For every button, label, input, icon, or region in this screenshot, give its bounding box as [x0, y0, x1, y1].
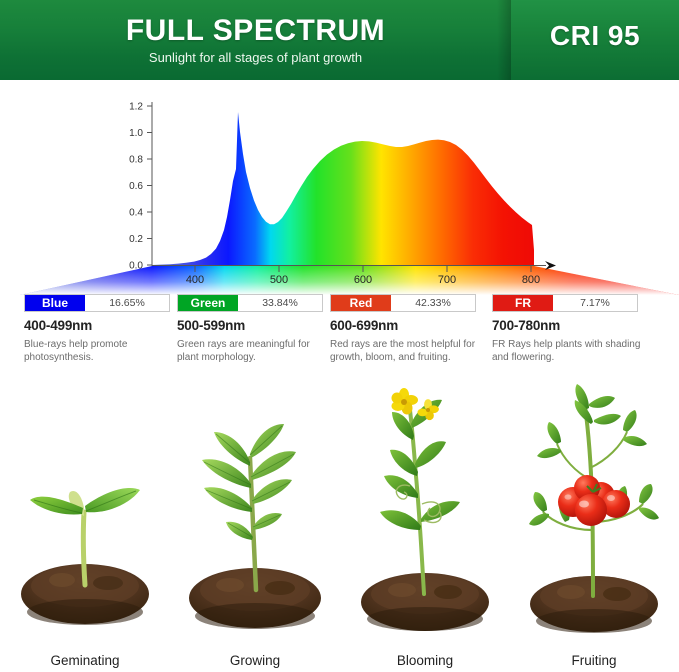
- growth-stage-blooming: Blooming: [340, 374, 510, 672]
- svg-text:0.8: 0.8: [129, 155, 143, 166]
- band-name: FR: [493, 295, 553, 311]
- tomato-plant-icon: [509, 380, 679, 638]
- x-axis-arrow-icon: [545, 261, 556, 270]
- y-axis-ticks: [147, 106, 152, 265]
- band-percent: 42.33%: [391, 295, 475, 311]
- legend-band-red: Red 42.33% 600-699nm Red rays are the mo…: [330, 294, 488, 364]
- band-percent: 16.65%: [85, 295, 169, 311]
- cri-badge: CRI 95: [511, 20, 679, 52]
- young-plant-icon: [170, 380, 340, 638]
- growth-stage-row: Geminating: [0, 374, 679, 672]
- svg-text:800: 800: [522, 274, 540, 286]
- stage-label: Fruiting: [509, 653, 679, 668]
- band-percent: 33.84%: [238, 295, 322, 311]
- svg-text:600: 600: [354, 274, 372, 286]
- band-description: Red rays are the most helpful for growth…: [330, 338, 482, 364]
- band-badge-row: Blue 16.65%: [24, 294, 170, 312]
- seedling-icon: [0, 380, 170, 638]
- band-range: 400-499nm: [24, 319, 182, 334]
- page-subtitle: Sunlight for all stages of plant growth: [0, 50, 511, 65]
- infographic-page: FULL SPECTRUM Sunlight for all stages of…: [0, 0, 679, 672]
- flowering-plant-icon: [340, 380, 510, 638]
- page-title: FULL SPECTRUM: [0, 14, 511, 48]
- spectrum-chart: 0.0 0.2 0.4 0.6 0.8 1.0 1.2 400: [0, 80, 679, 295]
- legend-band-fr: FR 7.17% 700-780nm FR Rays help plants w…: [492, 294, 650, 364]
- svg-text:0.6: 0.6: [129, 181, 143, 192]
- band-description: FR Rays help plants with shading and flo…: [492, 338, 644, 364]
- stage-label: Blooming: [340, 653, 510, 668]
- svg-text:1.2: 1.2: [129, 102, 143, 113]
- svg-text:0.2: 0.2: [129, 234, 143, 245]
- svg-text:400: 400: [186, 274, 204, 286]
- legend-band-green: Green 33.84% 500-599nm Green rays are me…: [177, 294, 335, 364]
- stage-label: Geminating: [0, 653, 170, 668]
- spectrum-chart-svg: 0.0 0.2 0.4 0.6 0.8 1.0 1.2 400: [0, 80, 679, 295]
- band-range: 500-599nm: [177, 319, 335, 334]
- growth-stage-fruiting: Fruiting: [509, 374, 679, 672]
- growth-stage-geminating: Geminating: [0, 374, 170, 672]
- header-banner: FULL SPECTRUM Sunlight for all stages of…: [0, 0, 679, 80]
- svg-text:700: 700: [438, 274, 456, 286]
- y-axis-labels: 0.0 0.2 0.4 0.6 0.8 1.0 1.2: [129, 102, 143, 272]
- band-name: Red: [331, 295, 391, 311]
- band-badge-row: Red 42.33%: [330, 294, 476, 312]
- svg-text:500: 500: [270, 274, 288, 286]
- band-name: Blue: [25, 295, 85, 311]
- stage-label: Growing: [170, 653, 340, 668]
- band-badge-row: Green 33.84%: [177, 294, 323, 312]
- band-range: 700-780nm: [492, 319, 650, 334]
- spectrum-fan-band: [20, 266, 679, 295]
- band-range: 600-699nm: [330, 319, 488, 334]
- band-description: Blue-rays help promote photosynthesis.: [24, 338, 176, 364]
- legend-band-blue: Blue 16.65% 400-499nm Blue-rays help pro…: [24, 294, 182, 364]
- svg-text:1.0: 1.0: [129, 128, 143, 139]
- growth-stage-growing: Growing: [170, 374, 340, 672]
- svg-text:0.4: 0.4: [129, 208, 143, 219]
- svg-text:0.0: 0.0: [129, 261, 143, 272]
- band-description: Green rays are meaningful for plant morp…: [177, 338, 329, 364]
- band-percent: 7.17%: [553, 295, 637, 311]
- band-name: Green: [178, 295, 238, 311]
- spectrum-legend: Blue 16.65% 400-499nm Blue-rays help pro…: [0, 294, 679, 374]
- spectrum-curve-fill: [152, 100, 534, 266]
- band-badge-row: FR 7.17%: [492, 294, 638, 312]
